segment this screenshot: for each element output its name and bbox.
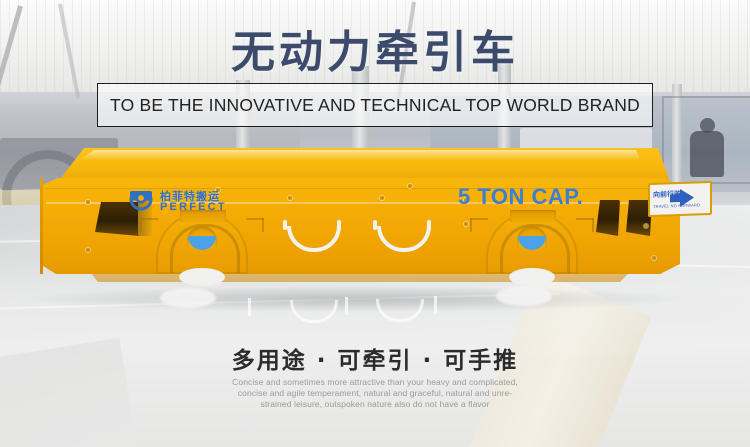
- cart-score-line: [592, 218, 594, 232]
- cart-bolt: [408, 184, 412, 188]
- cart-brand-name-en: PERFECT: [160, 201, 227, 213]
- cart-wheel: [509, 268, 555, 286]
- direction-sign-text-cn: 向前行驶: [653, 189, 681, 200]
- cart-score-line: [262, 218, 264, 232]
- banner-tagline: 多用途 · 可牵引 · 可手推: [0, 341, 750, 375]
- cart-score-line: [470, 218, 488, 220]
- cart-fork-pocket: [596, 200, 620, 236]
- background-worker-silhouette: [690, 131, 724, 177]
- body-copy-line: concise and agile temperament, natural a…: [195, 388, 555, 399]
- cart-bolt: [464, 222, 468, 226]
- cart-direction-sign: 向前行驶 TRAVEL NO FORWARD: [648, 181, 712, 217]
- banner-body-copy: Concise and sometimes more attractive th…: [195, 377, 555, 410]
- cart-score-line: [470, 218, 472, 232]
- cart-smiley-eye: [283, 220, 287, 230]
- cart-smiley-eye: [427, 220, 431, 230]
- cart-smiley-eye: [373, 220, 377, 230]
- cart-bolt: [288, 196, 292, 200]
- cart-capacity-label: 5 TON CAP.: [458, 184, 583, 210]
- cart-left-edge: [40, 178, 43, 274]
- body-copy-line: strained leisure, outspoken nature also …: [195, 399, 555, 410]
- cart-score-line: [140, 218, 142, 232]
- yellow-transfer-cart: 柏菲特搬运 PERFECT 5 TON CAP. 向前行驶 TRAVEL NO …: [40, 148, 680, 296]
- panel-reflection: [248, 298, 251, 316]
- cart-smiley-eye: [337, 220, 341, 230]
- cart-wheel: [179, 268, 225, 286]
- panel-reflection: [434, 296, 437, 314]
- perfect-logo-icon: [128, 190, 154, 214]
- cart-bolt: [652, 256, 656, 260]
- cart-bolt: [644, 224, 648, 228]
- body-copy-line: Concise and sometimes more attractive th…: [195, 377, 555, 388]
- cart-score-line: [140, 218, 158, 220]
- cart-brand-logo: 柏菲特搬运 PERFECT: [128, 188, 246, 216]
- banner-title: 无动力牵引车: [0, 16, 750, 80]
- cart-top-notch: [510, 210, 556, 222]
- product-banner: 柏菲特搬运 PERFECT 5 TON CAP. 向前行驶 TRAVEL NO …: [0, 0, 750, 447]
- banner-subtitle-box: TO BE THE INNOVATIVE AND TECHNICAL TOP W…: [97, 83, 653, 127]
- direction-sign-text-en: TRAVEL NO FORWARD: [653, 202, 700, 209]
- banner-subtitle: TO BE THE INNOVATIVE AND TECHNICAL TOP W…: [110, 95, 640, 116]
- cart-deck-highlight: [80, 150, 640, 160]
- panel-reflection: [345, 297, 348, 315]
- cart-bolt: [86, 248, 90, 252]
- cart-bolt: [380, 196, 384, 200]
- cart-bolt: [86, 200, 90, 204]
